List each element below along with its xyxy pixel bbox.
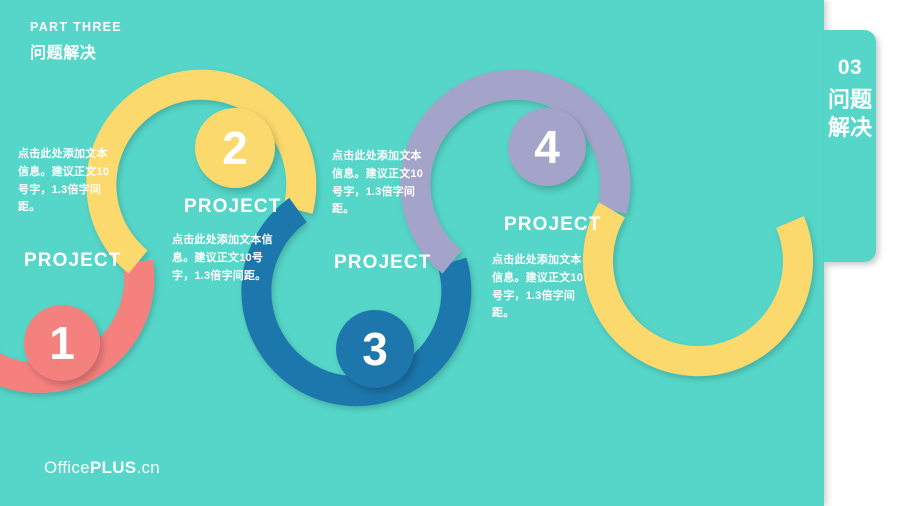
step-1-body-text: 点击此处添加文本信息。建议正文10号字，1.3倍字间距。: [18, 146, 114, 217]
step-2-caption: PROJECT: [184, 196, 281, 218]
step-2-number-badge[interactable]: 2: [195, 108, 275, 188]
officeplus-logo: OfficePLUS.cn: [44, 458, 160, 478]
part-label: PART THREE: [30, 20, 122, 34]
header: PART THREE 问题解决: [30, 20, 122, 63]
slide-canvas: PART THREE 问题解决 点击此处添加文本信息。建议正文10号字，1.3倍…: [0, 0, 900, 506]
logo-cn-text: .cn: [136, 458, 160, 477]
step-1-number-badge[interactable]: 1: [24, 305, 100, 381]
section-number: 03: [824, 56, 876, 80]
step-3-caption: PROJECT: [334, 252, 431, 274]
section-title-vertical: 问题解决: [824, 86, 876, 142]
logo-plus-text: PLUS: [90, 458, 137, 477]
step-2-body-text: 点击此处添加文本信息。建议正文10号字，1.3倍字间距。: [172, 232, 282, 285]
step-4-number-badge[interactable]: 4: [508, 108, 586, 186]
step-4-body-text: 点击此处添加文本信息。建议正文10号字，1.3倍字间距。: [492, 252, 590, 323]
step-1-caption: PROJECT: [24, 250, 121, 272]
step-3-body-text: 点击此处添加文本信息。建议正文10号字，1.3倍字间距。: [332, 148, 426, 219]
logo-office-text: Office: [44, 458, 90, 477]
section-tab[interactable]: 03 问题解决: [824, 30, 876, 262]
step-3-number-badge[interactable]: 3: [336, 310, 414, 388]
page-title: 问题解决: [30, 39, 122, 63]
arc-yellow-2: [598, 210, 798, 361]
step-4-caption: PROJECT: [504, 214, 601, 236]
